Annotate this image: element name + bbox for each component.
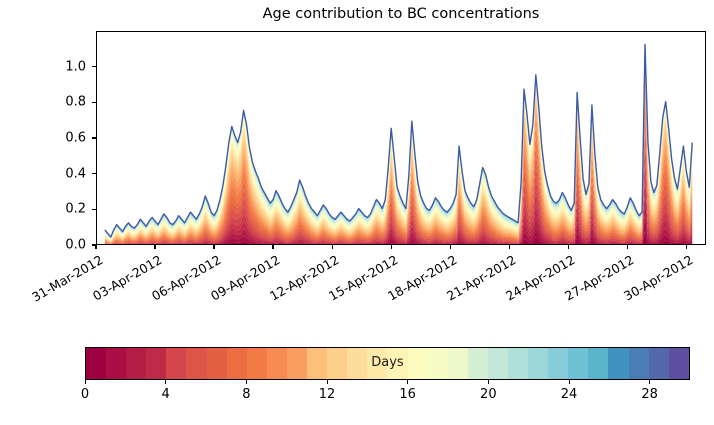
colorbar-segment	[669, 348, 689, 379]
colorbar-segment	[488, 348, 508, 379]
y-tick-label: 0.0	[0, 238, 86, 253]
x-tick-mark	[450, 245, 451, 249]
colorbar-segment	[588, 348, 608, 379]
x-tick-mark	[154, 245, 155, 249]
colorbar-segment	[247, 348, 267, 379]
colorbar-tick-mark	[488, 380, 489, 384]
colorbar-tick-mark	[649, 380, 650, 384]
colorbar-segment	[649, 348, 669, 379]
x-tick-mark	[391, 245, 392, 249]
plot-area	[96, 31, 706, 245]
x-tick-mark	[332, 245, 333, 249]
colorbar-segment	[146, 348, 166, 379]
colorbar-segment	[86, 348, 106, 379]
colorbar-tick-mark	[407, 380, 408, 384]
x-tick-mark	[95, 245, 96, 249]
colorbar-segment	[568, 348, 588, 379]
colorbar-segment	[347, 348, 367, 379]
colorbar-segment	[287, 348, 307, 379]
colorbar-segment	[166, 348, 186, 379]
x-tick-mark	[627, 245, 628, 249]
colorbar-tick-mark	[85, 380, 86, 384]
colorbar-segment	[608, 348, 628, 379]
colorbar-segment	[207, 348, 227, 379]
colorbar-segment	[327, 348, 347, 379]
colorbar-tick-mark	[569, 380, 570, 384]
colorbar-segment	[367, 348, 387, 379]
y-tick-label: 0.4	[0, 166, 86, 181]
colorbar-segment	[629, 348, 649, 379]
colorbar-tick-label: 12	[319, 387, 336, 402]
x-tick-mark	[272, 245, 273, 249]
colorbar-segment	[408, 348, 428, 379]
colorbar-tick-label: 8	[242, 387, 250, 402]
colorbar-segment	[468, 348, 488, 379]
colorbar-tick-label: 28	[641, 387, 658, 402]
colorbar-tick-mark	[165, 380, 166, 384]
stacked-area-chart	[97, 32, 706, 245]
y-tick-label: 0.8	[0, 95, 86, 110]
colorbar-tick-label: 16	[399, 387, 416, 402]
x-tick-mark	[568, 245, 569, 249]
colorbar-tick-label: 4	[162, 387, 170, 402]
colorbar-segment	[106, 348, 126, 379]
colorbar-tick-label: 24	[561, 387, 578, 402]
colorbar-tick-mark	[246, 380, 247, 384]
colorbar-segment	[528, 348, 548, 379]
figure-canvas: Age contribution to BC concentrations BC…	[0, 0, 714, 425]
colorbar[interactable]	[85, 347, 690, 380]
x-tick-mark	[686, 245, 687, 249]
y-tick-label: 0.2	[0, 202, 86, 217]
y-tick-label: 1.0	[0, 59, 86, 74]
colorbar-tick-label: 20	[480, 387, 497, 402]
colorbar-segment	[307, 348, 327, 379]
colorbar-segment	[548, 348, 568, 379]
x-tick-mark	[213, 245, 214, 249]
colorbar-segment	[186, 348, 206, 379]
y-tick-label: 0.6	[0, 131, 86, 146]
colorbar-segment	[267, 348, 287, 379]
colorbar-segment	[428, 348, 448, 379]
x-tick-mark	[509, 245, 510, 249]
colorbar-tick-mark	[327, 380, 328, 384]
colorbar-tick-label: 0	[81, 387, 89, 402]
colorbar-segment	[227, 348, 247, 379]
colorbar-segment	[448, 348, 468, 379]
chart-title: Age contribution to BC concentrations	[96, 6, 706, 22]
colorbar-segment	[387, 348, 407, 379]
colorbar-segment	[508, 348, 528, 379]
colorbar-segment	[126, 348, 146, 379]
